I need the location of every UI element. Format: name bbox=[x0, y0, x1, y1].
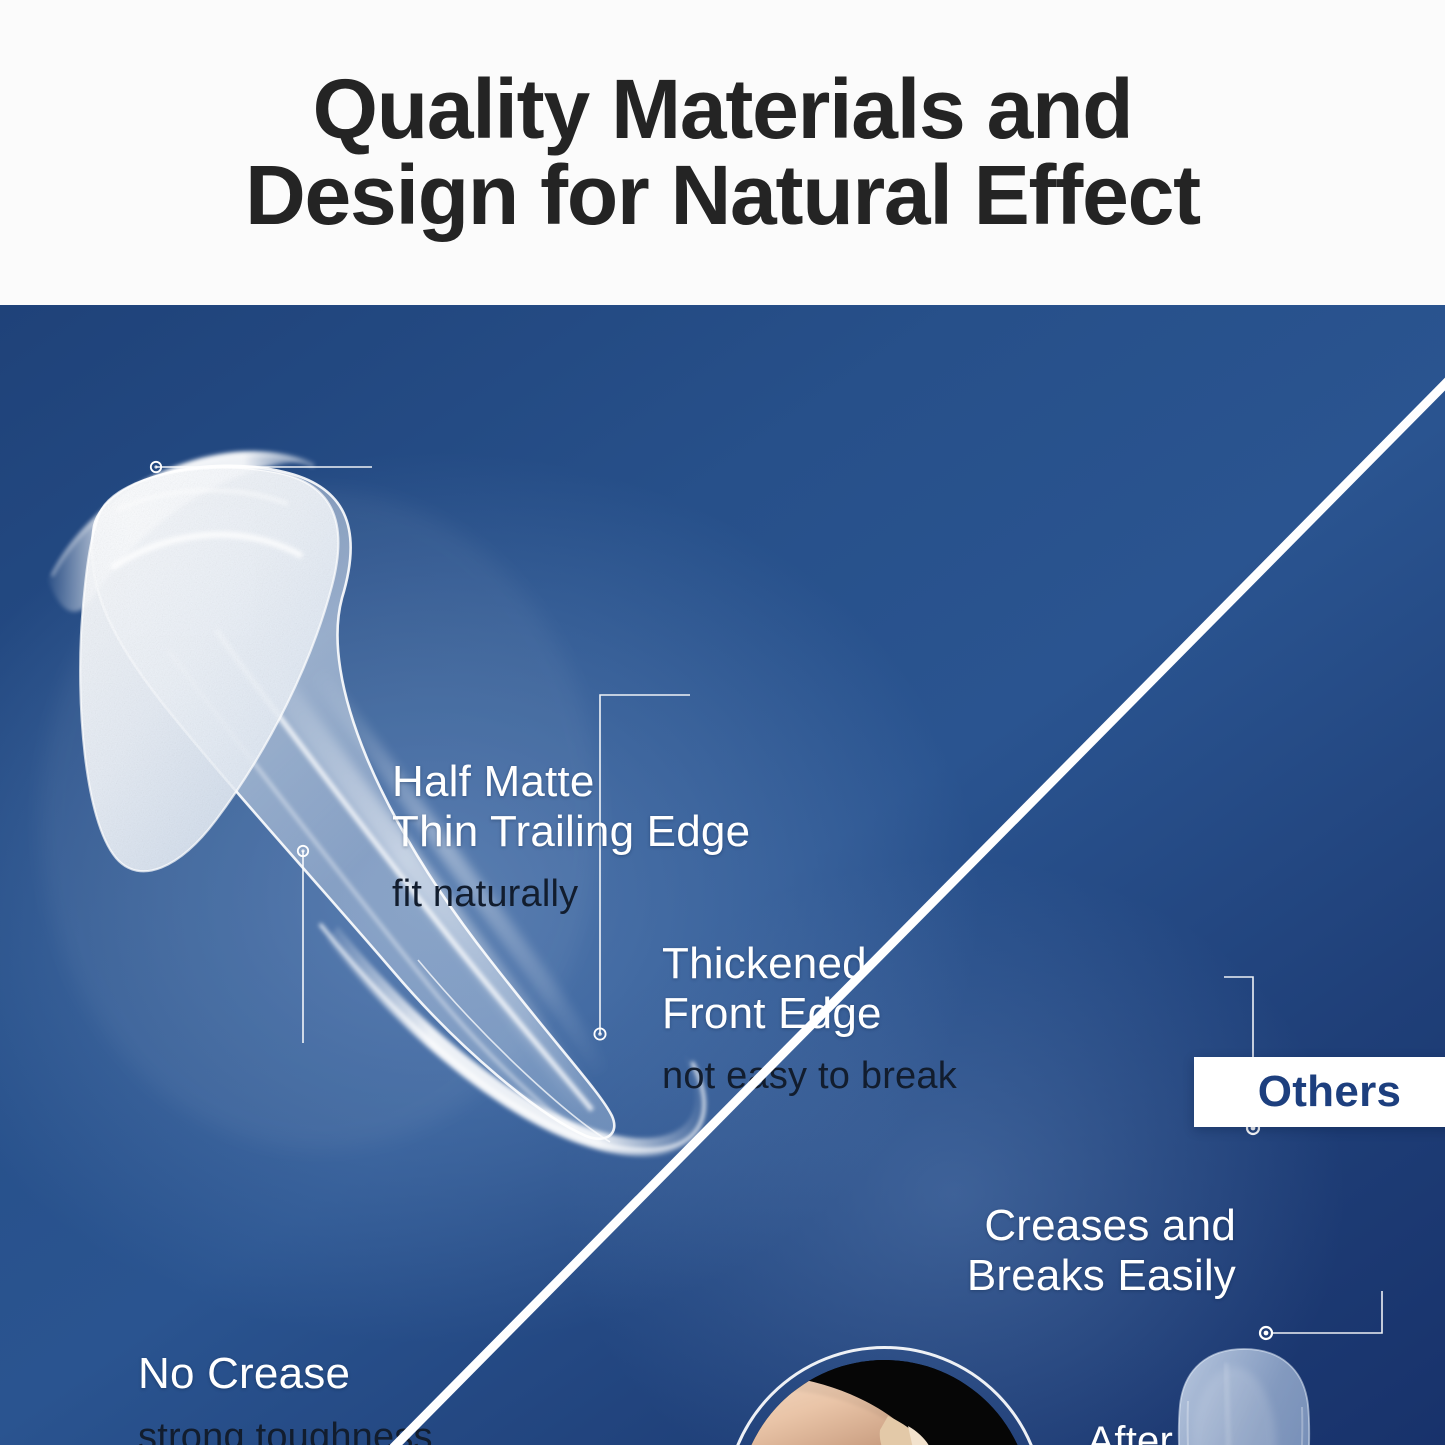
abs-nail-tip-image bbox=[1164, 1335, 1324, 1445]
badge-others-label: Others bbox=[1258, 1067, 1402, 1117]
label-thickened-subtitle: not easy to break bbox=[662, 1054, 957, 1100]
photo-circle-ring bbox=[724, 1346, 1045, 1445]
label-creases-breaks: Creases and Breaks Easily bbox=[966, 1201, 1236, 1300]
label-creases-title: Creases and Breaks Easily bbox=[966, 1201, 1236, 1300]
label-thickened-title: Thickened Front Edge bbox=[662, 939, 957, 1038]
comparison-panel: Half Matte Thin Trailing Edge fit natura… bbox=[0, 305, 1445, 1445]
label-thickened-front-edge: Thickened Front Edge not easy to break bbox=[662, 939, 957, 1100]
page-title: Quality Materials and Design for Natural… bbox=[175, 67, 1270, 238]
label-no-crease: No Crease strong toughness bbox=[138, 1349, 433, 1445]
label-half-matte-title: Half Matte Thin Trailing Edge bbox=[392, 757, 750, 856]
header-banner: Quality Materials and Design for Natural… bbox=[0, 0, 1445, 305]
label-no-crease-title: No Crease bbox=[138, 1349, 433, 1399]
label-no-crease-subtitle: strong toughness bbox=[138, 1415, 433, 1445]
label-after-bend-title: After Bend bbox=[1053, 1419, 1173, 1445]
label-half-matte: Half Matte Thin Trailing Edge fit natura… bbox=[392, 757, 750, 918]
infographic-root: Quality Materials and Design for Natural… bbox=[0, 0, 1445, 1445]
label-half-matte-subtitle: fit naturally bbox=[392, 872, 750, 918]
label-after-bend: After Bend bbox=[1053, 1419, 1173, 1445]
badge-others: Others bbox=[1194, 1057, 1445, 1127]
